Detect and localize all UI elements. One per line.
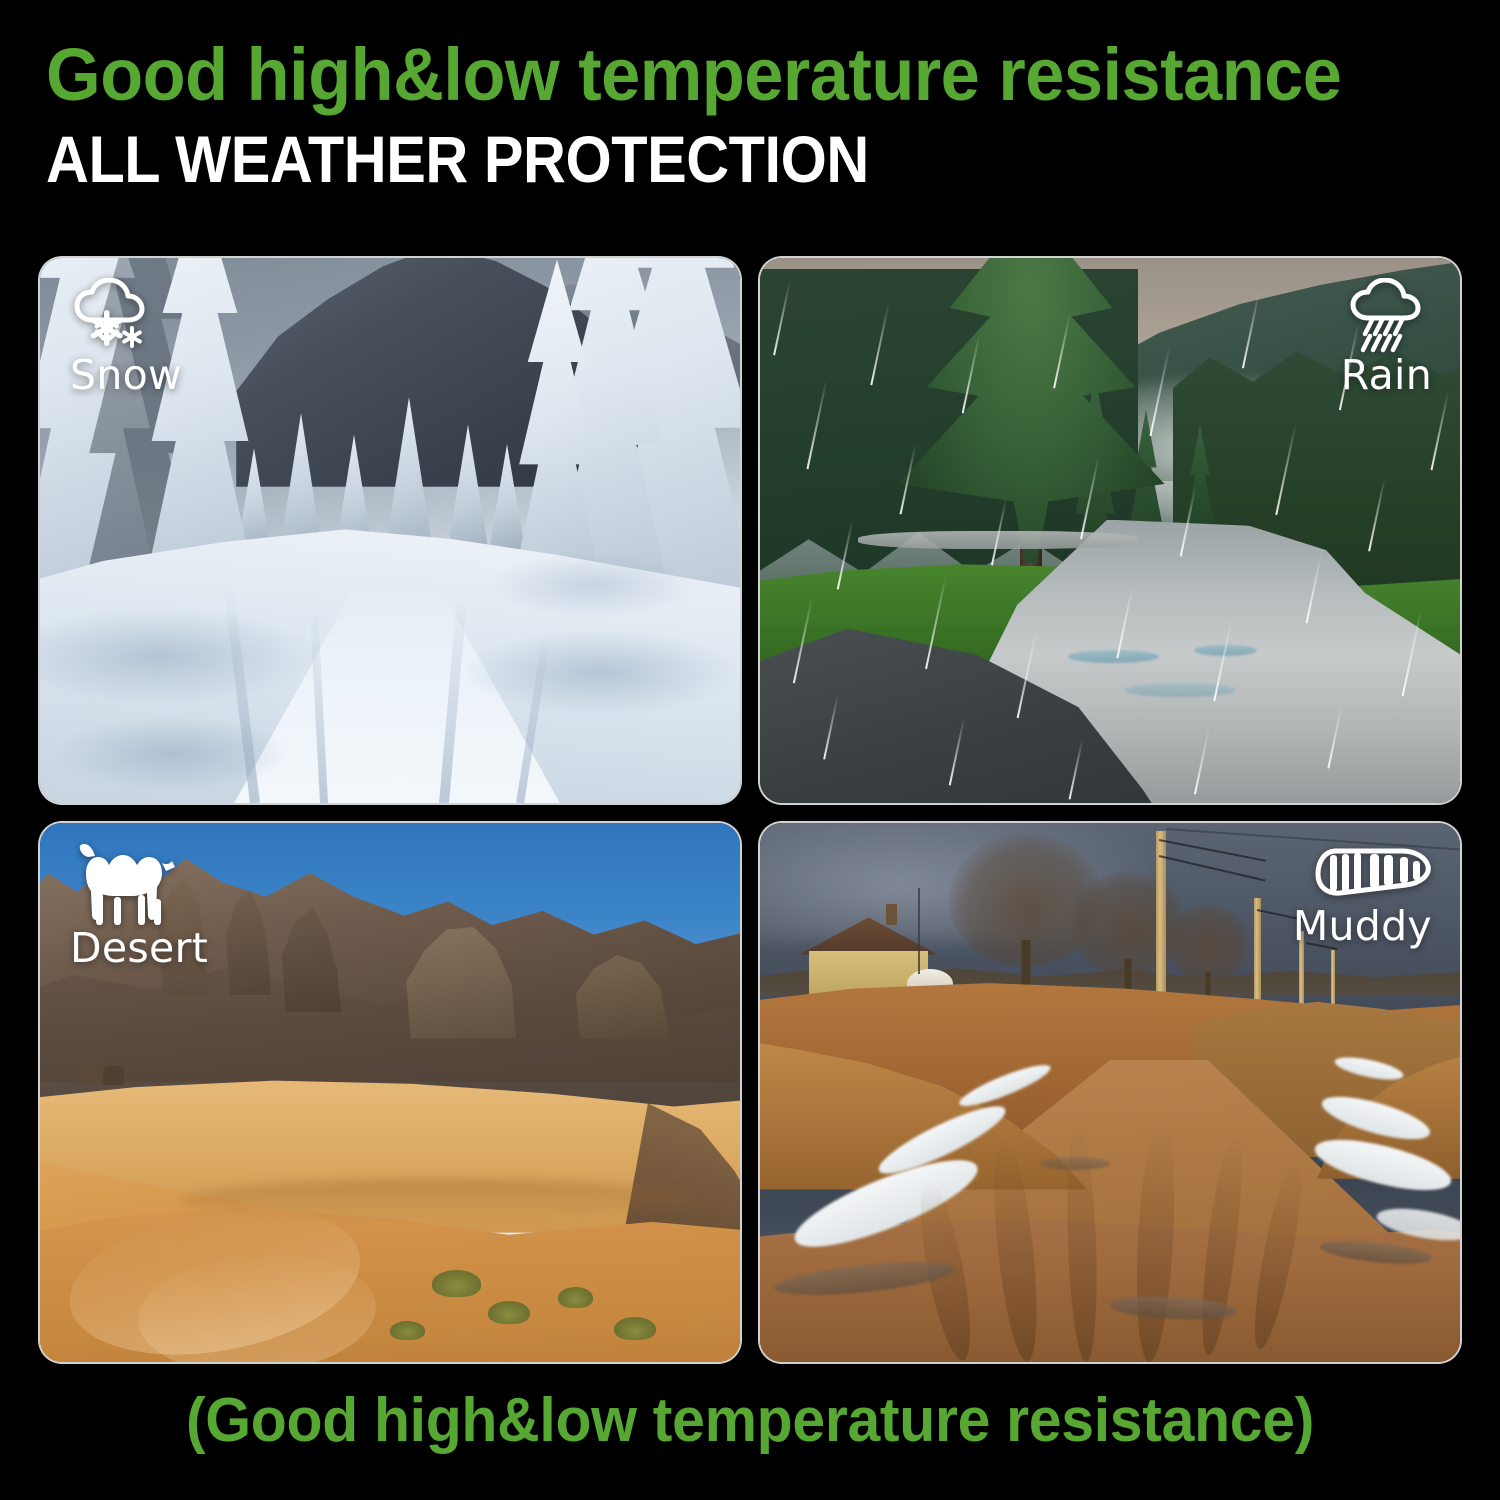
- panel-label-muddy: Muddy: [1293, 904, 1432, 948]
- page-title: ALL WEATHER PROTECTION: [46, 122, 1324, 196]
- badge-snow: Snow: [66, 278, 182, 397]
- panel-muddy[interactable]: Muddy: [760, 823, 1460, 1362]
- power-pole: [1331, 950, 1335, 1009]
- power-pole: [1254, 898, 1261, 1006]
- panel-label-desert: Desert: [70, 926, 208, 970]
- badge-desert: Desert: [66, 843, 208, 970]
- poster-root: Good high&low temperature resistance ALL…: [0, 0, 1500, 1500]
- camel-icon: [66, 843, 182, 932]
- tree: [514, 260, 600, 580]
- boot-print-icon: [1314, 843, 1434, 910]
- panel-rain[interactable]: Rain: [760, 258, 1460, 803]
- cloud-rain-icon: [1338, 278, 1434, 359]
- footer-caption: (Good high&low temperature resistance): [38, 1386, 1463, 1456]
- panel-label-rain: Rain: [1341, 353, 1432, 397]
- panel-desert[interactable]: Desert: [40, 823, 740, 1362]
- panel-label-snow: Snow: [70, 353, 182, 397]
- bare-tree: [1166, 904, 1250, 1001]
- cloud-snow-icon: [66, 278, 162, 359]
- badge-rain: Rain: [1338, 278, 1434, 397]
- headline-block: Good high&low temperature resistance ALL…: [46, 34, 1466, 196]
- badge-muddy: Muddy: [1293, 843, 1434, 948]
- tagline-text: Good high&low temperature resistance: [46, 34, 1395, 116]
- panel-snow[interactable]: Snow: [40, 258, 740, 803]
- weather-panel-grid: Snow: [40, 258, 1460, 1362]
